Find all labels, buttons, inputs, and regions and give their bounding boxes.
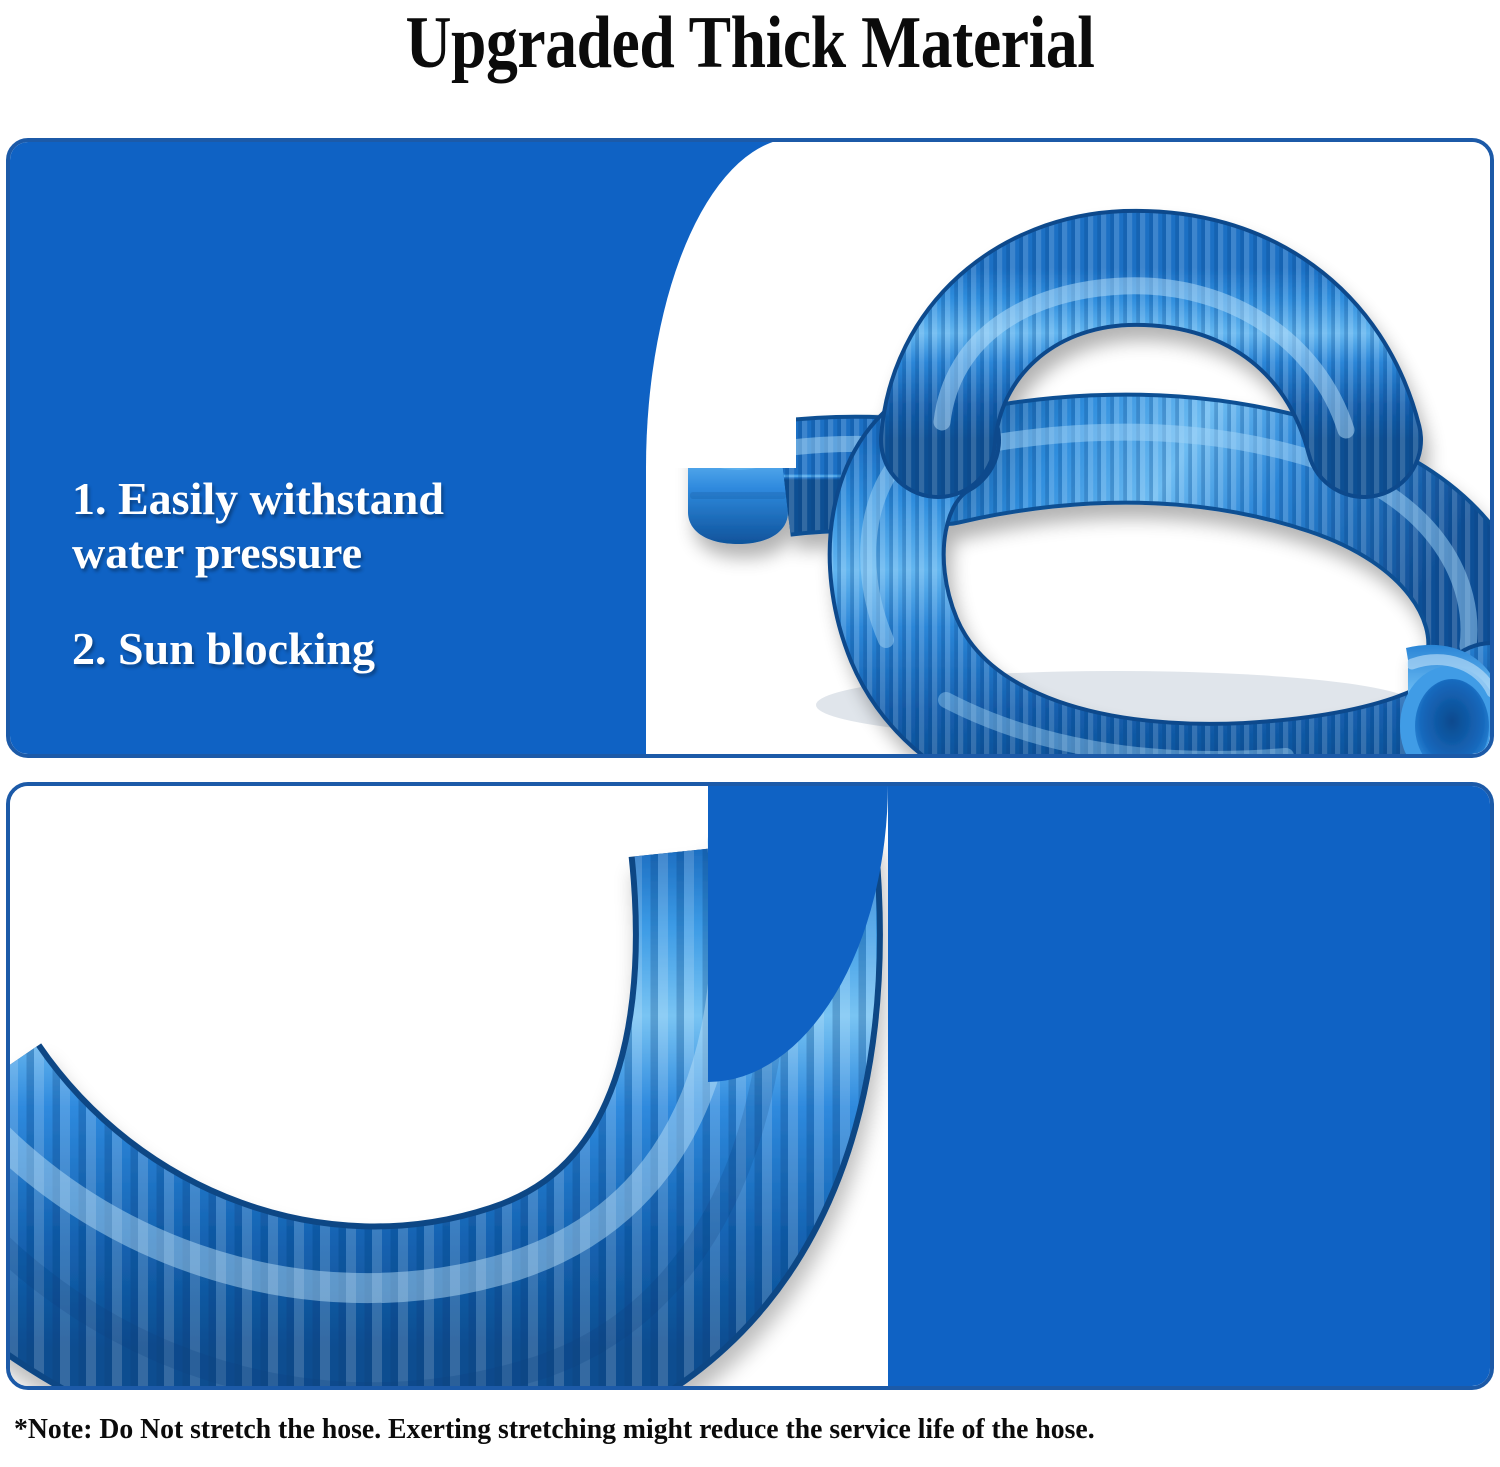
photo-corner-mask-bottom xyxy=(708,784,888,1082)
panel-bottom: 3. No leak and no collapse 4. Suitable f… xyxy=(6,782,1494,1390)
photo-corner-mask-top xyxy=(646,140,796,468)
footer-note: *Note: Do Not stretch the hose. Exerting… xyxy=(14,1412,1424,1446)
feature-list-top: 1. Easily withstand water pressure 2. Su… xyxy=(72,472,632,718)
panel-top: 1. Easily withstand water pressure 2. Su… xyxy=(6,138,1494,758)
infographic-page: Upgraded Thick Material xyxy=(0,0,1500,1467)
feature-item-2: 2. Sun blocking xyxy=(72,622,632,676)
panel-bottom-photo xyxy=(8,784,888,1390)
panel-bottom-blue-background xyxy=(872,784,1492,1390)
feature-item-1: 1. Easily withstand water pressure xyxy=(72,472,632,580)
page-title: Upgraded Thick Material xyxy=(105,2,1395,84)
panel-top-photo xyxy=(646,140,1494,758)
